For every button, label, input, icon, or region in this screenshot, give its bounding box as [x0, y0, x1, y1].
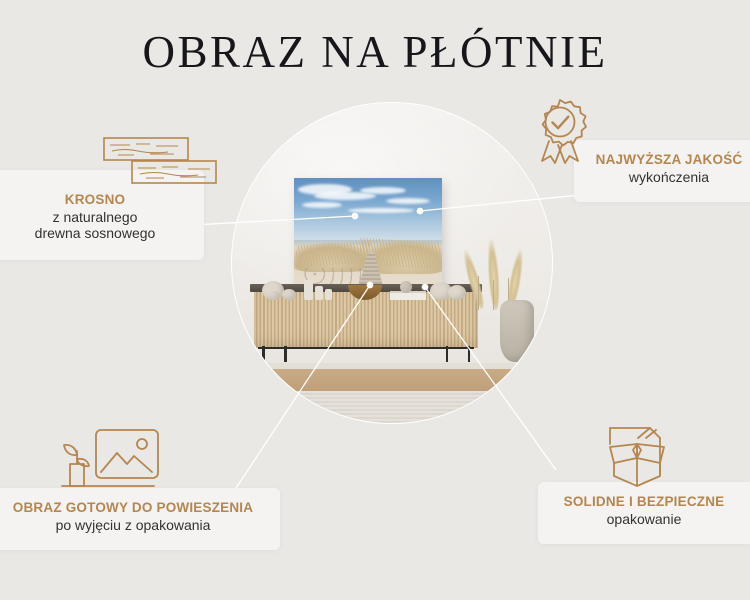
feature-heading-gotowy: OBRAZ GOTOWY DO POWIESZENIA	[0, 500, 280, 515]
baseboard	[232, 363, 552, 369]
stem	[478, 276, 479, 310]
leg	[262, 346, 265, 362]
infographic-stage: OBRAZ NA PŁÓTNIE	[0, 0, 750, 600]
stem	[493, 280, 494, 310]
cloud	[360, 187, 406, 194]
room-scene	[232, 103, 552, 423]
pampas-grass	[466, 214, 538, 310]
feature-heading-jakosc: NAJWYŻSZA JAKOŚĆ	[574, 152, 750, 167]
cloud	[386, 198, 430, 204]
cloud	[348, 208, 414, 213]
leg-crossbar	[258, 347, 474, 350]
quality-badge-icon	[524, 94, 596, 170]
cloud	[302, 202, 342, 208]
wooden-planks-icon	[96, 134, 224, 188]
feature-subtitle-gotowy: po wyjęciu z opakowania	[0, 517, 280, 533]
feature-subtitle-krosno-line2: drewna sosnowego	[0, 225, 204, 241]
open-box-icon	[596, 416, 678, 488]
feature-subtitle-jakosc: wykończenia	[574, 169, 750, 185]
area-rug	[232, 391, 552, 423]
leg	[446, 346, 449, 362]
feature-heading-opakowanie: SOLIDNE I BEZPIECZNE	[538, 494, 750, 509]
pillar-candle	[304, 280, 313, 300]
sideboard-slatted-front	[254, 292, 478, 348]
cloud	[314, 192, 376, 200]
sideboard-legs	[258, 346, 474, 362]
canvas-artwork	[294, 178, 442, 290]
feature-heading-krosno: KROSNO	[0, 192, 204, 207]
feature-subtitle-opakowanie: opakowanie	[538, 511, 750, 527]
pillar-candle	[315, 286, 323, 300]
framed-picture-plant-icon	[56, 424, 168, 496]
leg	[468, 346, 471, 362]
page-title: OBRAZ NA PŁÓTNIE	[0, 26, 750, 78]
stone-vase	[500, 300, 534, 362]
feature-subtitle-krosno-line1: z naturalnego	[0, 209, 204, 225]
pillar-candle	[325, 289, 332, 300]
hero-circle-image	[232, 103, 552, 423]
feature-card-opakowanie[interactable]: SOLIDNE I BEZPIECZNE opakowanie	[538, 482, 750, 544]
feature-card-gotowy[interactable]: OBRAZ GOTOWY DO POWIESZENIA po wyjęciu z…	[0, 488, 280, 550]
leg	[284, 346, 287, 362]
feature-card-jakosc[interactable]: NAJWYŻSZA JAKOŚĆ wykończenia	[574, 140, 750, 202]
